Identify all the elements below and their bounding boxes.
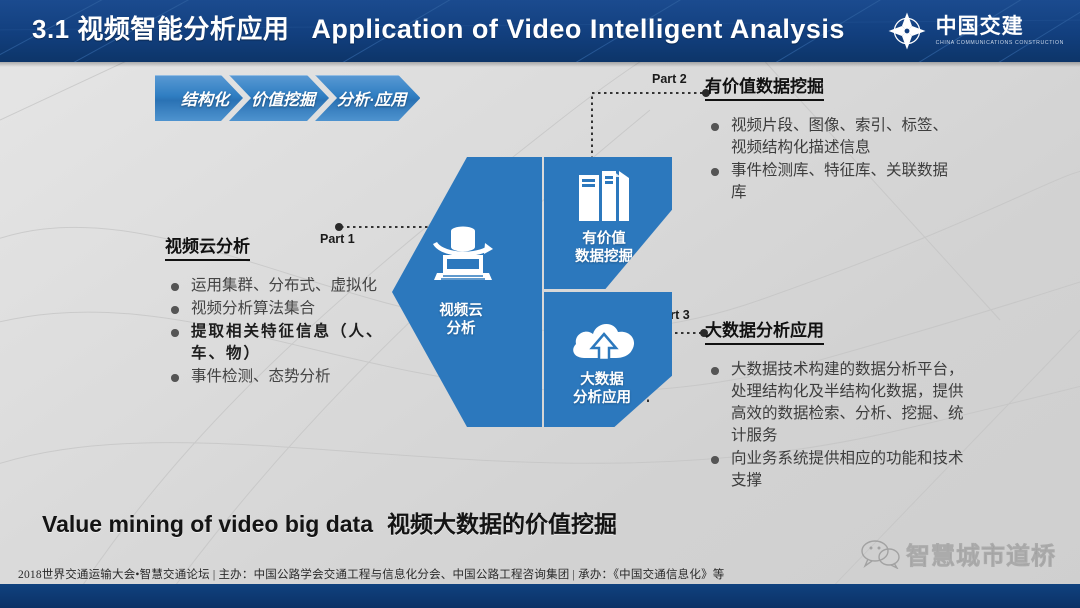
part3-block: 大数据分析应用 大数据技术构建的数据分析平台，处理结构化及半结构化数据，提供高效… (705, 316, 965, 493)
slide-root: 3.1 视频智能分析应用Application of Video Intelli… (0, 0, 1080, 608)
hex-label-big-data-application: 大数据 分析应用 (538, 372, 666, 407)
cloud-upload-icon (568, 314, 640, 362)
hex-label-line2: 分析应用 (538, 390, 666, 408)
list-item: 事件检测、态势分析 (165, 366, 395, 388)
page-title-cn: 3.1 视频智能分析应用 (32, 14, 289, 44)
connector-dot-part1 (335, 223, 343, 231)
list-item: 视频片段、图像、索引、标签、视频结构化描述信息 (705, 115, 955, 159)
wechat-bubble-icon (860, 539, 900, 569)
bottom-caption: Value mining of video big data视频大数据的价值挖掘 (42, 505, 617, 539)
hex-label-line2: 数据挖掘 (540, 249, 668, 267)
cloud-laptop-icon (427, 219, 499, 285)
connector-part2 (592, 93, 706, 165)
list-item: 提取相关特征信息（人、车、物） (165, 321, 395, 365)
process-arrow-3[interactable]: 分析·应用 (315, 75, 420, 121)
page-title-en: Application of Video Intelligent Analysi… (311, 14, 845, 44)
part3-bullet-list: 大数据技术构建的数据分析平台，处理结构化及半结构化数据，提供高效的数据检索、分析… (705, 359, 965, 492)
hex-label-line2: 分析 (386, 321, 536, 339)
process-arrow-1[interactable]: 结构化 (155, 75, 243, 121)
process-arrow-2-label: 价值挖掘 (251, 86, 315, 110)
part1-title: 视频云分析 (165, 232, 250, 261)
hex-label-line1: 视频云 (386, 303, 536, 321)
page-title: 3.1 视频智能分析应用Application of Video Intelli… (32, 9, 845, 46)
hexagon-diagram: 视频云 分析 有价值 数据挖掘 (392, 157, 672, 427)
hex-segment-big-data-application[interactable]: 大数据 分析应用 (544, 292, 672, 427)
part2-title: 有价值数据挖掘 (705, 72, 824, 101)
hex-label-line1: 有价值 (540, 231, 668, 249)
list-item: 大数据技术构建的数据分析平台，处理结构化及半结构化数据，提供高效的数据检索、分析… (705, 359, 965, 447)
process-arrow-3-label: 分析·应用 (337, 86, 406, 110)
part1-bullet-list: 运用集群、分布式、虚拟化 视频分析算法集合 提取相关特征信息（人、车、物） 事件… (165, 275, 395, 388)
hex-label-video-cloud-analysis: 视频云 分析 (386, 303, 536, 338)
part2-bullet-list: 视频片段、图像、索引、标签、视频结构化描述信息 事件检测库、特征库、关联数据库 (705, 115, 955, 204)
list-item: 运用集群、分布式、虚拟化 (165, 275, 395, 297)
caption-cn: 视频大数据的价值挖掘 (387, 511, 617, 537)
header-shadow (0, 62, 1080, 67)
logo-text-en: CHINA COMMUNICATIONS CONSTRUCTION (936, 41, 1064, 46)
list-item: 事件检测库、特征库、关联数据库 (705, 160, 955, 204)
list-item: 视频分析算法集合 (165, 298, 395, 320)
brand-logo: 中国交建 CHINA COMMUNICATIONS CONSTRUCTION (886, 8, 1064, 54)
hex-segment-valuable-data-mining[interactable]: 有价值 数据挖掘 (544, 157, 672, 289)
compass-diamond-emblem-icon (886, 10, 928, 52)
hex-label-line1: 大数据 (538, 372, 666, 390)
hex-label-valuable-data-mining: 有价值 数据挖掘 (540, 231, 668, 266)
process-arrow-1-label: 结构化 (181, 86, 229, 110)
list-item: 向业务系统提供相应的功能和技术支撑 (705, 448, 965, 492)
part1-block: 视频云分析 运用集群、分布式、虚拟化 视频分析算法集合 提取相关特征信息（人、车… (165, 232, 395, 389)
part2-block: 有价值数据挖掘 视频片段、图像、索引、标签、视频结构化描述信息 事件检测库、特征… (705, 72, 955, 205)
footer-bar (0, 584, 1080, 608)
logo-text-cn: 中国交建 (936, 16, 1024, 37)
part3-title: 大数据分析应用 (705, 316, 824, 345)
process-arrow-group: 结构化 价值挖掘 分析·应用 (155, 75, 420, 121)
hex-segment-video-cloud-analysis[interactable]: 视频云 分析 (392, 157, 542, 427)
footer-text: 2018世界交通运输大会•智慧交通论坛 | 主办：中国公路学会交通工程与信息化分… (18, 566, 1062, 582)
header-bar: 3.1 视频智能分析应用Application of Video Intelli… (0, 0, 1080, 62)
part2-tag: Part 2 (652, 72, 687, 86)
caption-en: Value mining of video big data (42, 511, 373, 537)
server-rack-icon (577, 169, 635, 225)
process-arrow-2[interactable]: 价值挖掘 (229, 75, 329, 121)
